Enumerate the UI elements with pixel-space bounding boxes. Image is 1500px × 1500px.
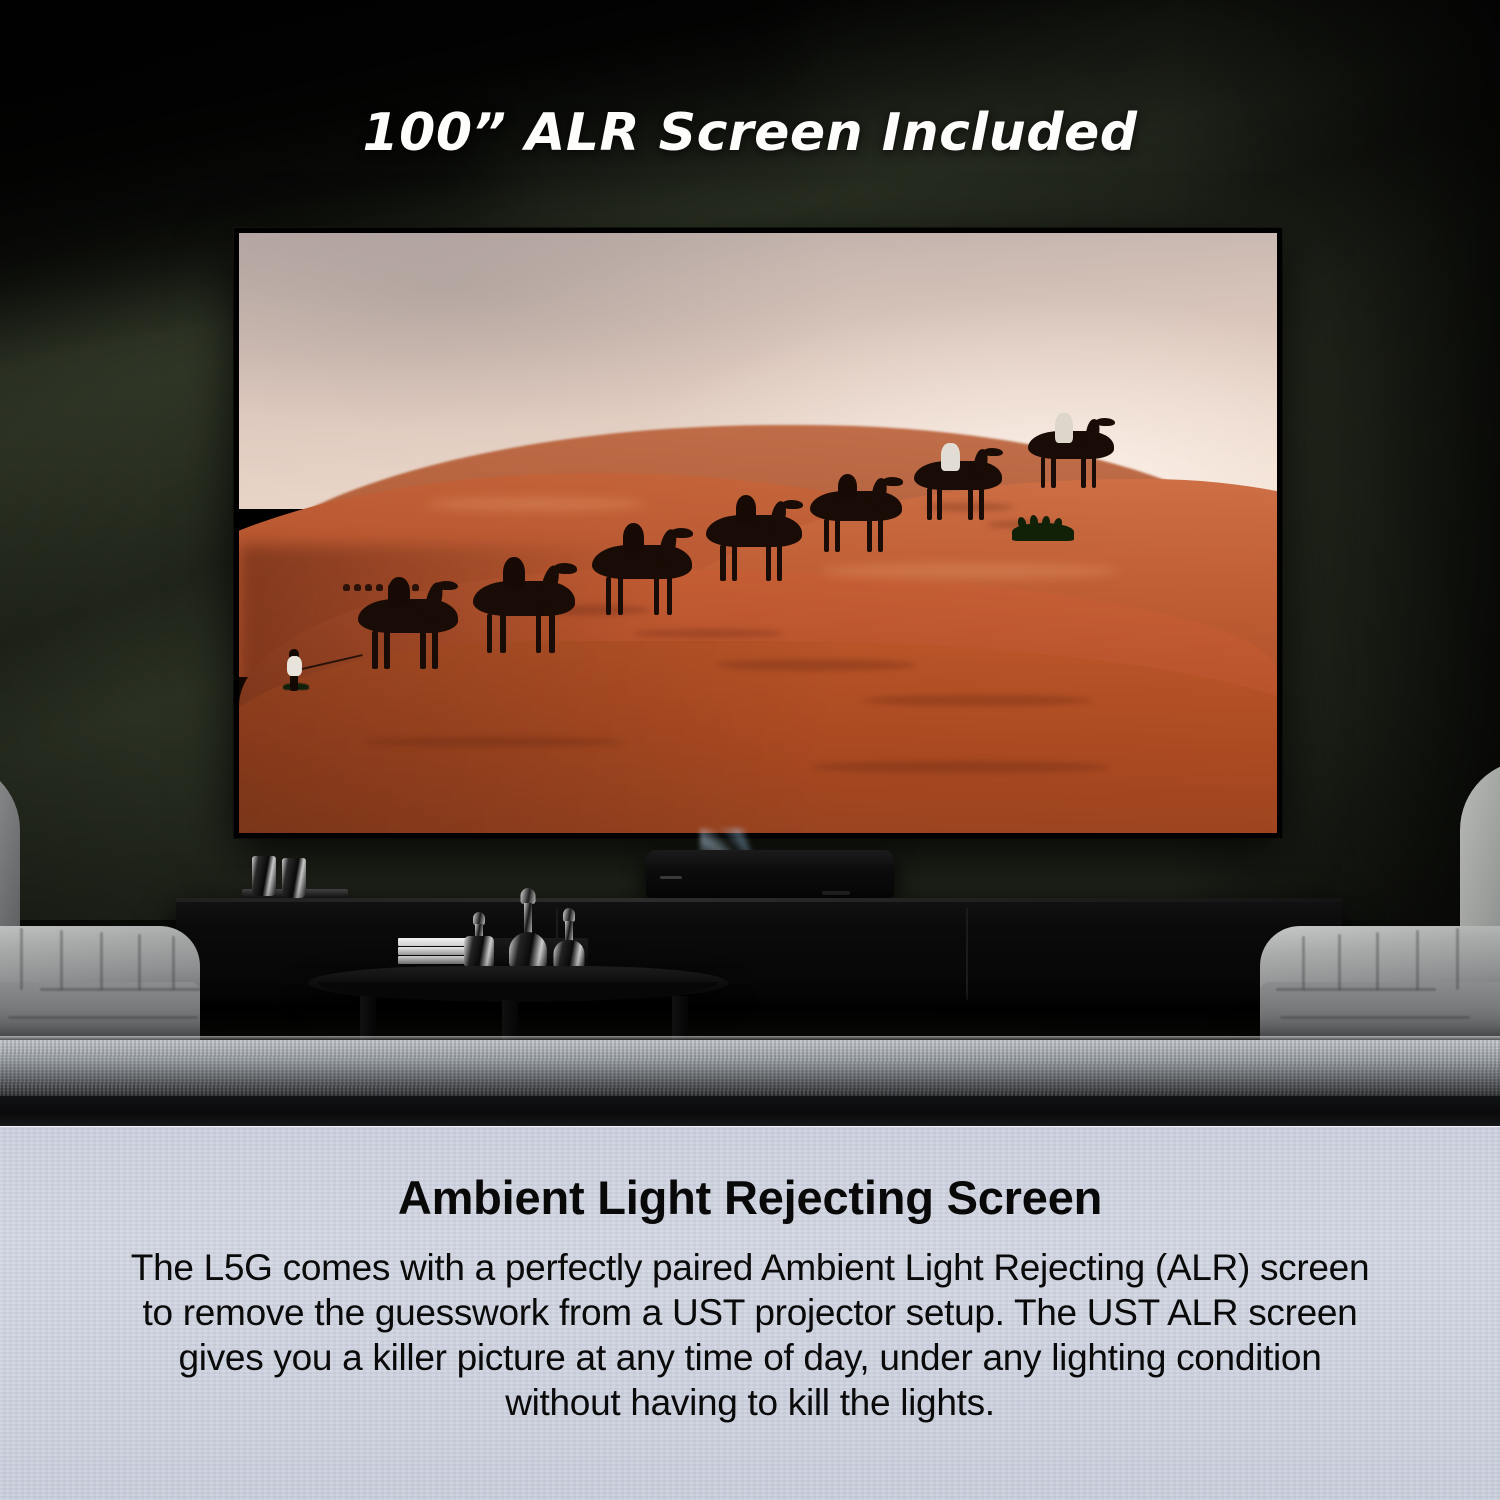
lead-rope bbox=[302, 654, 363, 670]
crystal-decanter-tall bbox=[508, 888, 548, 970]
sofa-right bbox=[1260, 760, 1500, 1060]
camel-3 bbox=[592, 545, 692, 611]
living-room-scene bbox=[0, 0, 1500, 1130]
camel-1 bbox=[358, 599, 458, 665]
camel-2 bbox=[473, 581, 575, 649]
screen-image-desert-caravan bbox=[239, 233, 1277, 833]
camel-4 bbox=[706, 515, 802, 577]
projector-vent bbox=[660, 876, 682, 879]
crystal-decanter-small bbox=[462, 912, 496, 968]
console-shadow bbox=[176, 1000, 1342, 1040]
rug-dark-band bbox=[0, 1096, 1500, 1126]
ust-projector bbox=[646, 850, 894, 898]
product-marketing-image: 100” ALR Screen Included Ambient Light R… bbox=[0, 0, 1500, 1500]
console-seam bbox=[966, 908, 968, 1000]
panel-title: Ambient Light Rejecting Screen bbox=[0, 1170, 1500, 1225]
tumbler-glass bbox=[282, 858, 306, 898]
sofa-left bbox=[0, 760, 240, 1060]
camel-caravan bbox=[239, 233, 1277, 833]
camel-5 bbox=[810, 491, 902, 549]
panel-body-text: The L5G comes with a perfectly paired Am… bbox=[130, 1245, 1370, 1425]
console-top-edge bbox=[176, 898, 1342, 902]
sofa-backrest bbox=[0, 760, 20, 940]
rug-edge-highlight bbox=[0, 1036, 1500, 1041]
camel-6 bbox=[914, 461, 1002, 517]
crystal-decanter-medium bbox=[552, 908, 586, 970]
alr-projection-screen bbox=[234, 228, 1282, 838]
page-headline: 100” ALR Screen Included bbox=[0, 103, 1500, 163]
projector-badge bbox=[822, 891, 850, 895]
caravan-guide-walker bbox=[287, 656, 302, 690]
sofa-backrest bbox=[1460, 760, 1500, 940]
tumbler-glass bbox=[252, 856, 276, 896]
camel-7 bbox=[1028, 431, 1114, 485]
